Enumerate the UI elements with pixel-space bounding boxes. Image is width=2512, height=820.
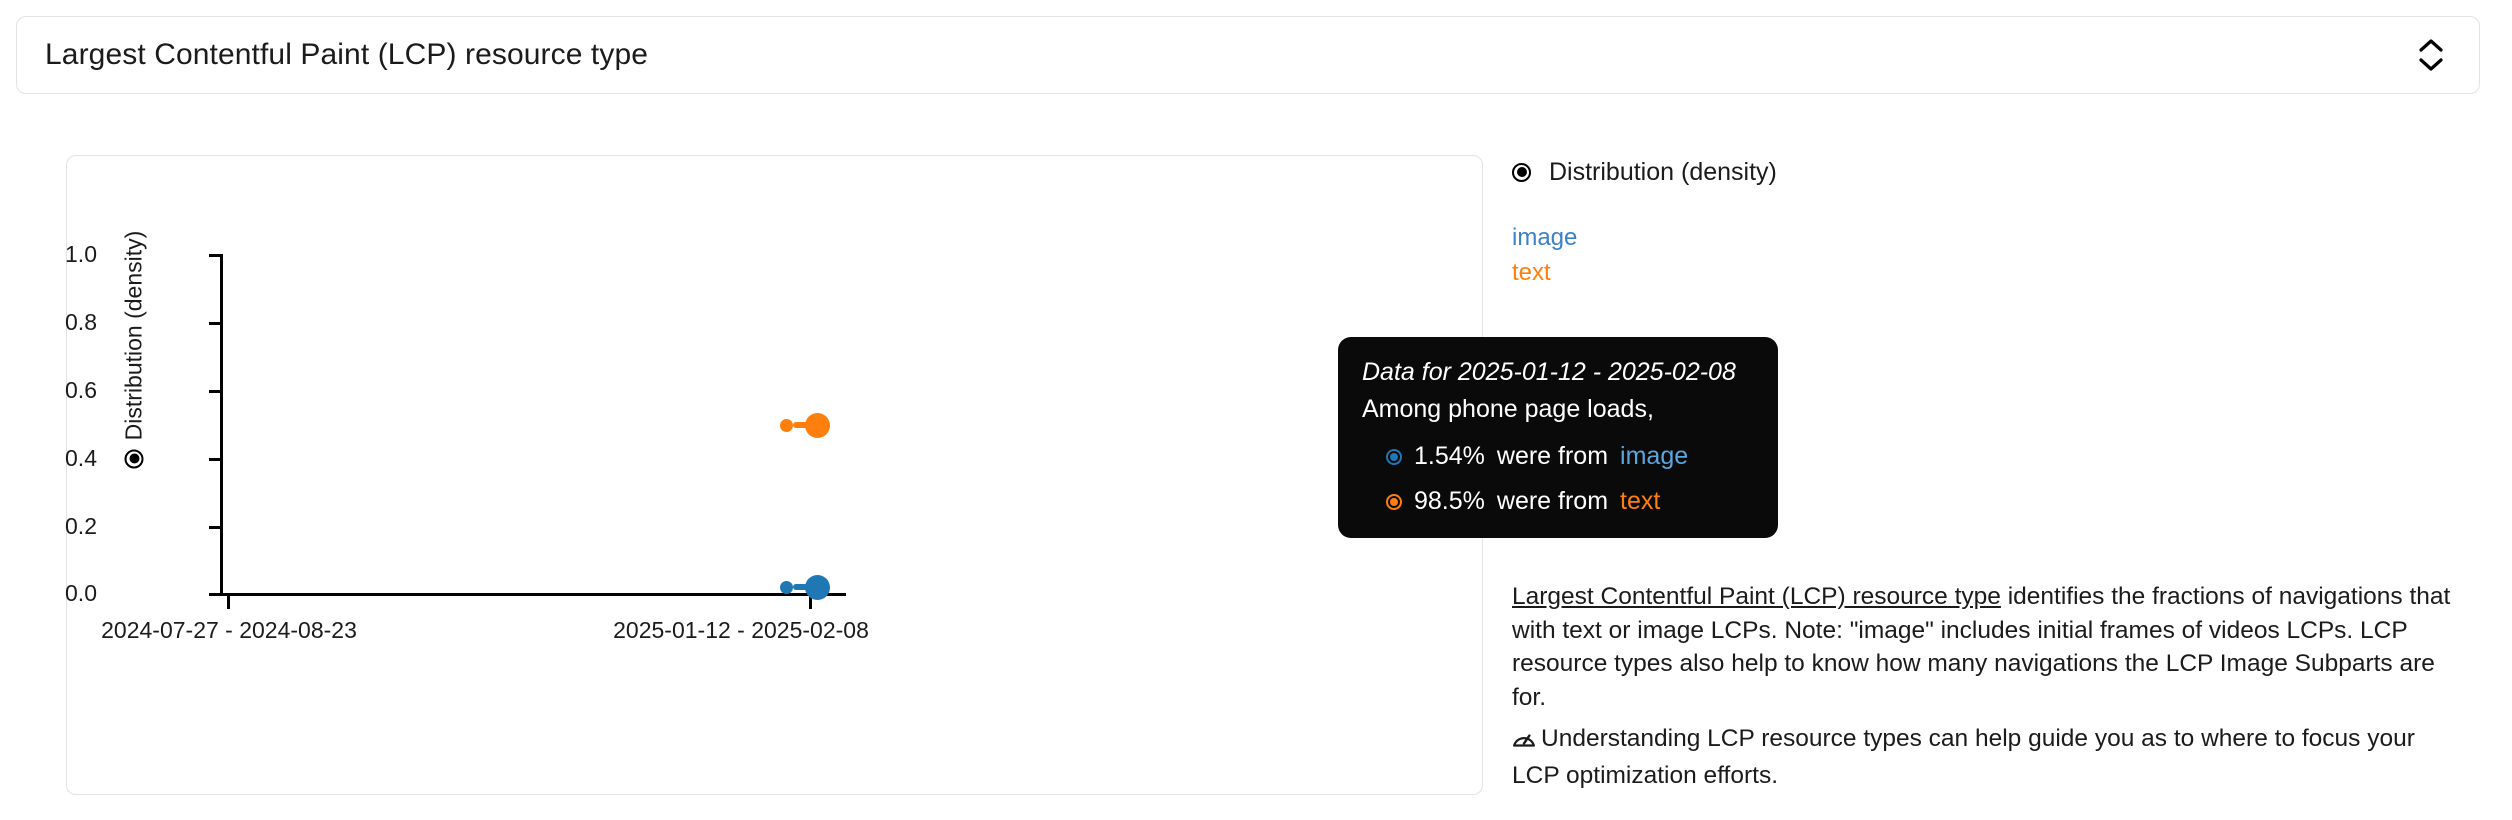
y-axis-title: Distribution (density): [121, 190, 148, 510]
side-panel: Distribution (density) image text: [1512, 155, 2462, 291]
x-tick-label: 2024-07-27 - 2024-08-23: [101, 617, 357, 644]
y-tick-mark: [209, 526, 221, 529]
y-axis-title-label: Distribution (density): [121, 231, 148, 441]
tooltip-subheader: Among phone page loads,: [1362, 392, 1754, 427]
panel-header[interactable]: Largest Contentful Paint (LCP) resource …: [16, 16, 2480, 94]
chevron-down-icon: [2418, 57, 2444, 72]
x-axis-line: [220, 593, 846, 596]
y-tick-label: 0.2: [7, 513, 97, 540]
y-tick-label: 1.0: [7, 241, 97, 268]
series-point-text-highlighted[interactable]: [805, 413, 830, 438]
tooltip-text-image: were from: [1497, 442, 1608, 471]
gauge-icon: [1512, 725, 1536, 759]
tooltip-label-text: text: [1620, 487, 1660, 516]
chart-legend: image text: [1512, 221, 2462, 291]
chevron-up-down-icon[interactable]: [2409, 29, 2453, 81]
y-tick-label: 0.0: [7, 580, 97, 607]
y-axis-line: [220, 254, 223, 596]
x-tick-mark: [227, 596, 230, 609]
y-tick-mark: [209, 390, 221, 393]
tooltip-label-image: image: [1620, 442, 1688, 471]
tooltip-value-text: 98.5%: [1414, 487, 1485, 516]
series-point-image-highlighted[interactable]: [805, 575, 830, 600]
tooltip-row-text: 98.5% were from text: [1362, 487, 1754, 516]
legend-item-image[interactable]: image: [1512, 221, 2462, 256]
legend-item-text[interactable]: text: [1512, 256, 2462, 291]
metric-description-link[interactable]: Largest Contentful Paint (LCP) resource …: [1512, 583, 2001, 610]
y-tick-label: 0.8: [7, 309, 97, 336]
tooltip-row-image: 1.54% were from image: [1362, 442, 1754, 471]
text-series-marker-icon: [1386, 494, 1402, 510]
series-point-image[interactable]: [780, 581, 793, 594]
series-point-text[interactable]: [780, 419, 793, 432]
plot-area[interactable]: Distribution (density) 1.0 0.8 0.6 0.4 0…: [67, 156, 1482, 794]
chevron-up-icon: [2418, 38, 2444, 53]
y-tick-label: 0.4: [7, 445, 97, 472]
metric-description: Largest Contentful Paint (LCP) resource …: [1512, 580, 2452, 714]
image-series-marker-icon: [1386, 449, 1402, 465]
radio-selected-icon[interactable]: [1512, 163, 1531, 182]
distribution-radio-icon: [125, 449, 144, 468]
x-tick-label: 2025-01-12 - 2025-02-08: [613, 617, 869, 644]
tooltip-text-text: were from: [1497, 487, 1608, 516]
metric-option-distribution[interactable]: Distribution (density): [1512, 155, 2462, 189]
page-title: Largest Contentful Paint (LCP) resource …: [45, 38, 648, 72]
y-tick-mark: [209, 254, 221, 257]
y-tick-mark: [209, 593, 221, 596]
y-tick-mark: [209, 458, 221, 461]
chart-tooltip: Data for 2025-01-12 - 2025-02-08 Among p…: [1338, 337, 1778, 538]
chart-card: Distribution (density) 1.0 0.8 0.6 0.4 0…: [66, 155, 1483, 795]
tooltip-header: Data for 2025-01-12 - 2025-02-08: [1362, 355, 1754, 390]
y-tick-label: 0.6: [7, 377, 97, 404]
metric-tip: Understanding LCP resource types can hel…: [1512, 722, 2452, 792]
tooltip-value-image: 1.54%: [1414, 442, 1485, 471]
metric-option-label: Distribution (density): [1549, 158, 1777, 187]
metric-tip-text: Understanding LCP resource types can hel…: [1512, 725, 2415, 789]
y-tick-mark: [209, 322, 221, 325]
